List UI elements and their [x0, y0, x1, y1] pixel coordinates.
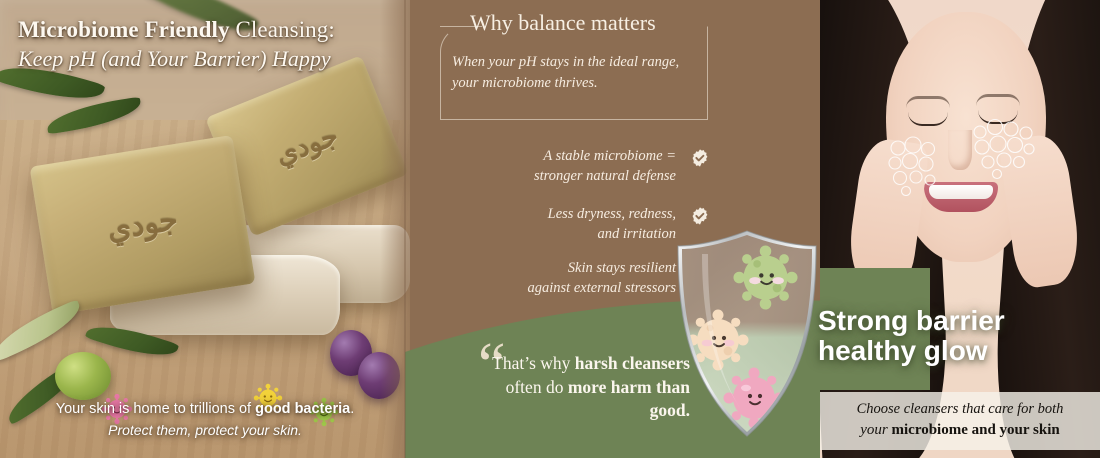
right-headline-line1: Strong barrier: [818, 306, 1100, 336]
section-title: Why balance matters: [470, 12, 736, 34]
right-headline: Strong barrier healthy glow: [818, 306, 1100, 366]
left-caption: Your skin is home to trillions of good b…: [0, 400, 410, 439]
benefit-line-1: Skin stays resilient: [568, 260, 676, 276]
headline-subline: Keep pH (and Your Barrier) Happy: [18, 46, 388, 72]
footer-line2-italic: your: [860, 422, 888, 438]
skin-cell-overlay-icon: [886, 136, 944, 196]
quote-part-3: often do: [506, 377, 568, 397]
promo-banner: جودي جودي: [0, 0, 1100, 458]
soap-arabic-stamp: جودي: [105, 202, 180, 248]
nose: [948, 130, 972, 170]
gear-check-icon: [690, 148, 710, 168]
main-headline: Microbiome Friendly Cleansing: Keep pH (…: [18, 16, 388, 73]
gear-check-icon: [690, 206, 710, 226]
soap-bar: جودي: [30, 135, 256, 315]
headline-rest: Cleansing:: [230, 17, 335, 42]
quote-part-1: That’s why: [492, 353, 575, 373]
benefit-line-1: A stable microbiome =: [543, 148, 676, 164]
section-subtitle: When your pH stays in the ideal range, y…: [452, 52, 700, 93]
benefit-item: Skin stays resilient against external st…: [436, 258, 676, 298]
benefit-line-2: and irritation: [597, 226, 676, 242]
footer-line1: Choose cleansers that care for both: [820, 401, 1100, 418]
benefit-line-1: Less dryness, redness,: [548, 206, 676, 222]
right-headline-line2: healthy glow: [818, 336, 1100, 366]
eyebrow-right: [976, 94, 1020, 106]
soap-arabic-stamp: جودي: [272, 121, 343, 172]
benefit-line-2: stronger natural defense: [534, 168, 676, 184]
pull-quote: That’s why harsh cleansers often do more…: [470, 352, 690, 423]
quote-bold-1: harsh: [575, 353, 618, 373]
protection-shield: [672, 228, 822, 440]
headline-bold: Microbiome Friendly: [18, 17, 230, 42]
skin-cell-overlay-icon: [970, 118, 1036, 180]
footer-line2-bold: microbiome and your skin: [888, 422, 1060, 438]
benefit-line-2: against external stressors: [528, 280, 677, 296]
panel-divider: [404, 0, 406, 458]
caption-bold: good bacteria: [255, 401, 350, 417]
eyebrow-left: [906, 96, 950, 108]
right-footer-bar: Choose cleansers that care for both your…: [820, 392, 1100, 450]
caption-text-a: Your skin is home to trillions of: [56, 401, 255, 417]
caption-line2: Protect them, protect your skin.: [0, 421, 410, 440]
benefit-item: Less dryness, redness, and irritation: [436, 204, 676, 244]
caption-text-b: .: [350, 401, 354, 417]
benefit-item: A stable microbiome = stronger natural d…: [436, 146, 676, 186]
